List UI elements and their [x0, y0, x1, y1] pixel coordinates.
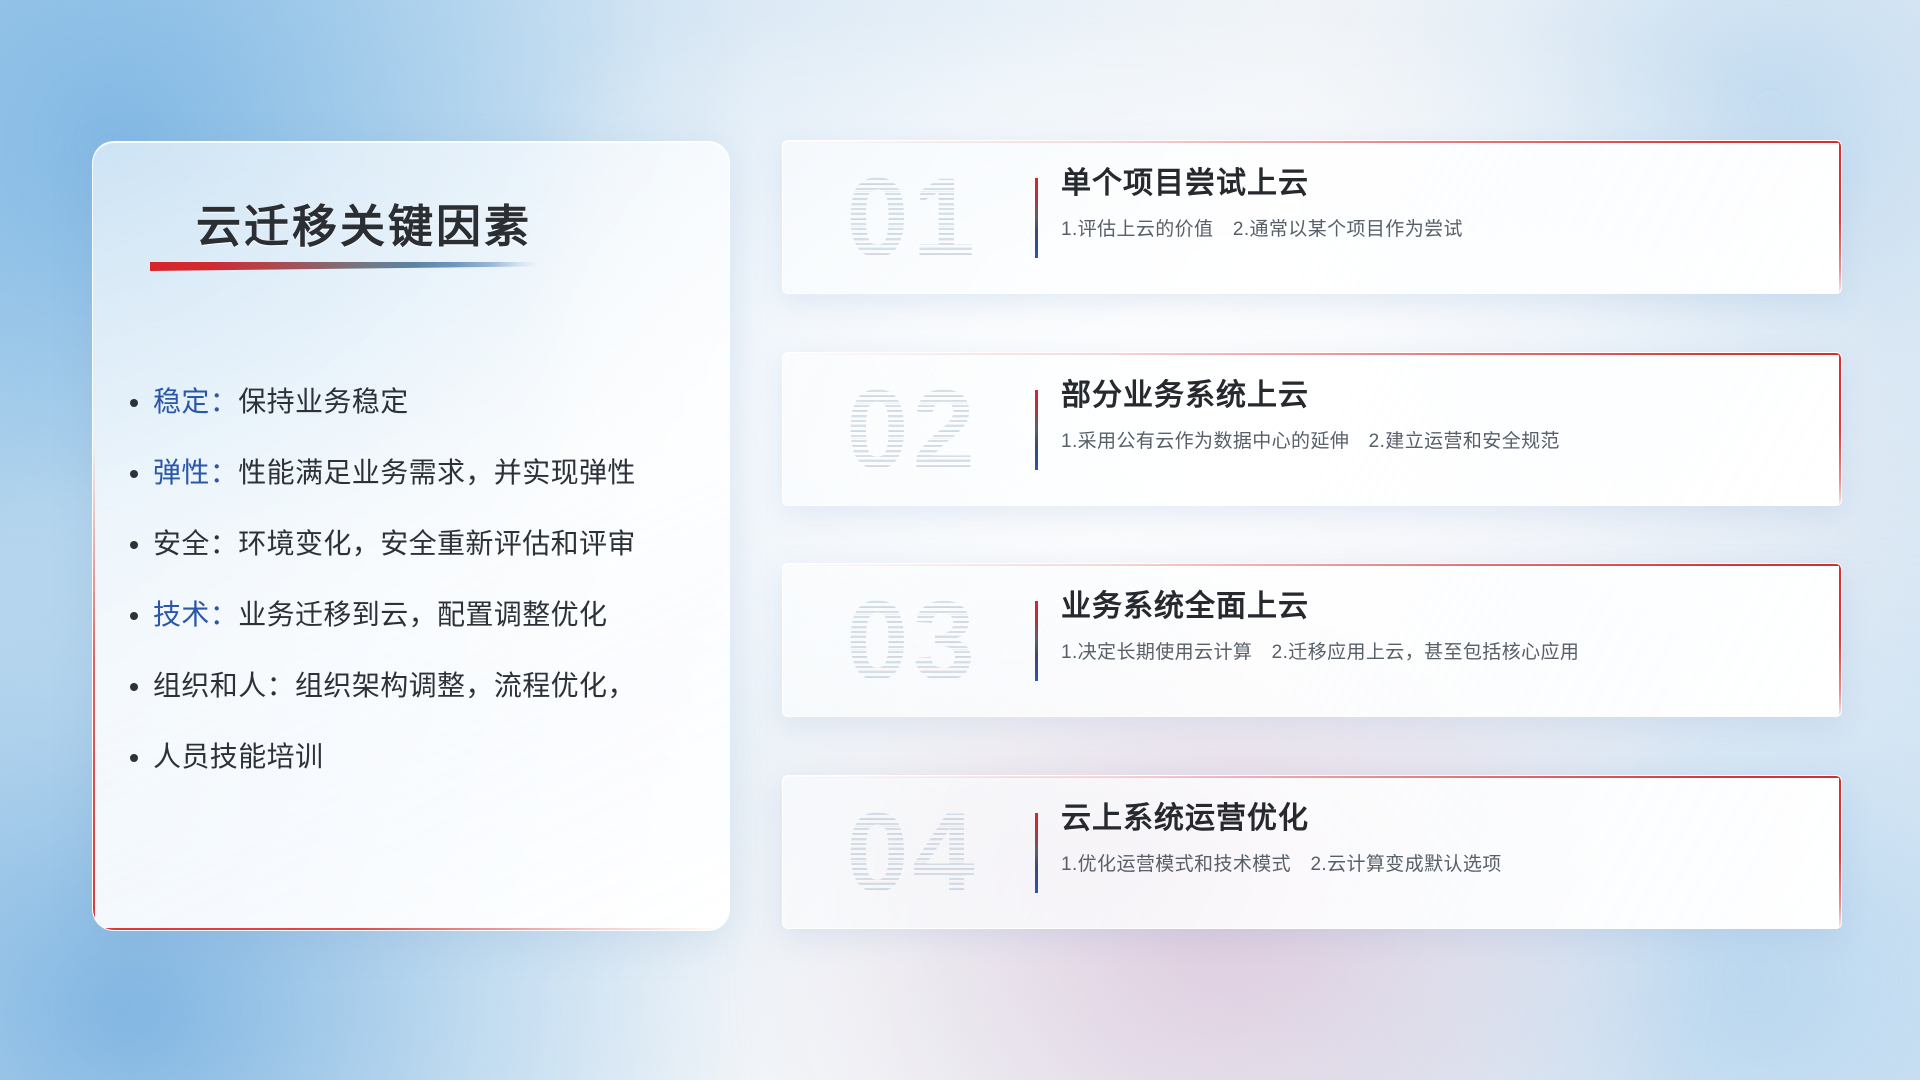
- step-title: 部分业务系统上云: [1061, 377, 1815, 415]
- step-title: 业务系统全面上云: [1061, 588, 1815, 626]
- key-factor-text: 环境变化，安全重新评估和评审: [238, 528, 636, 559]
- step-subtitle: 1.优化运营模式和技术模式 2.云计算变成默认选项: [1061, 853, 1815, 878]
- card-right-accent-line: [1839, 141, 1841, 293]
- step-subtitle: 1.评估上云的价值 2.通常以某个项目作为尝试: [1061, 218, 1815, 243]
- key-factor-text: 保持业务稳定: [238, 386, 408, 417]
- step-number: 04: [805, 778, 1020, 928]
- card-divider-bar: [1035, 390, 1038, 470]
- key-factor-item: 弹性：性能满足业务需求，并实现弹性: [153, 459, 689, 487]
- key-factor-item: 稳定：保持业务稳定: [153, 388, 689, 416]
- key-factor-label: 安全：: [153, 528, 238, 559]
- key-factor-item: 安全：环境变化，安全重新评估和评审: [153, 530, 689, 558]
- step-number: 02: [805, 355, 1020, 505]
- slide-stage: 云迁移关键因素 稳定：保持业务稳定弹性：性能满足业务需求，并实现弹性安全：环境变…: [0, 0, 1920, 1080]
- card-divider-bar: [1035, 601, 1038, 681]
- step-subtitle: 1.决定长期使用云计算 2.迁移应用上云，甚至包括核心应用: [1061, 641, 1815, 666]
- panel-bottom-accent-line: [93, 928, 729, 930]
- step-card[interactable]: 01 01 单个项目尝试上云 1.评估上云的价值 2.通常以某个项目作为尝试: [782, 140, 1842, 294]
- key-factor-label: 弹性：: [153, 457, 238, 488]
- step-card[interactable]: 03 03 业务系统全面上云 1.决定长期使用云计算 2.迁移应用上云，甚至包括…: [782, 563, 1842, 717]
- key-factors-panel: 云迁移关键因素 稳定：保持业务稳定弹性：性能满足业务需求，并实现弹性安全：环境变…: [92, 141, 730, 931]
- card-text-block: 单个项目尝试上云 1.评估上云的价值 2.通常以某个项目作为尝试: [1061, 165, 1815, 242]
- key-factor-label: 技术：: [153, 599, 238, 630]
- step-number: 03: [805, 566, 1020, 716]
- panel-title-underline: [150, 262, 538, 271]
- panel-title: 云迁移关键因素: [196, 190, 532, 255]
- key-factors-list: 稳定：保持业务稳定弹性：性能满足业务需求，并实现弹性安全：环境变化，安全重新评估…: [153, 388, 689, 771]
- card-divider-bar: [1035, 813, 1038, 893]
- card-text-block: 部分业务系统上云 1.采用公有云作为数据中心的延伸 2.建立运营和安全规范: [1061, 377, 1815, 454]
- step-card[interactable]: 04 04 云上系统运营优化 1.优化运营模式和技术模式 2.云计算变成默认选项: [782, 775, 1842, 929]
- panel-left-accent-line: [93, 442, 95, 930]
- card-right-accent-line: [1839, 564, 1841, 716]
- key-factor-item: 人员技能培训: [153, 743, 689, 771]
- key-factor-text: 性能满足业务需求，并实现弹性: [238, 457, 636, 488]
- card-text-block: 业务系统全面上云 1.决定长期使用云计算 2.迁移应用上云，甚至包括核心应用: [1061, 588, 1815, 665]
- key-factor-text: 人员技能培训: [153, 741, 323, 772]
- card-divider-bar: [1035, 178, 1038, 258]
- panel-title-underline-shape: [150, 262, 538, 271]
- key-factor-label: 组织和人：: [153, 670, 295, 701]
- key-factor-text: 业务迁移到云，配置调整优化: [238, 599, 607, 630]
- step-card[interactable]: 02 02 部分业务系统上云 1.采用公有云作为数据中心的延伸 2.建立运营和安…: [782, 352, 1842, 506]
- card-right-accent-line: [1839, 776, 1841, 928]
- key-factor-label: 稳定：: [153, 386, 238, 417]
- key-factor-text: 组织架构调整，流程优化，: [295, 670, 636, 701]
- card-text-block: 云上系统运营优化 1.优化运营模式和技术模式 2.云计算变成默认选项: [1061, 800, 1815, 877]
- key-factor-item: 技术：业务迁移到云，配置调整优化: [153, 601, 689, 629]
- step-number: 01: [805, 143, 1020, 293]
- step-title: 云上系统运营优化: [1061, 800, 1815, 838]
- step-subtitle: 1.采用公有云作为数据中心的延伸 2.建立运营和安全规范: [1061, 430, 1815, 455]
- step-title: 单个项目尝试上云: [1061, 165, 1815, 203]
- key-factor-item: 组织和人：组织架构调整，流程优化，: [153, 672, 689, 700]
- card-right-accent-line: [1839, 353, 1841, 505]
